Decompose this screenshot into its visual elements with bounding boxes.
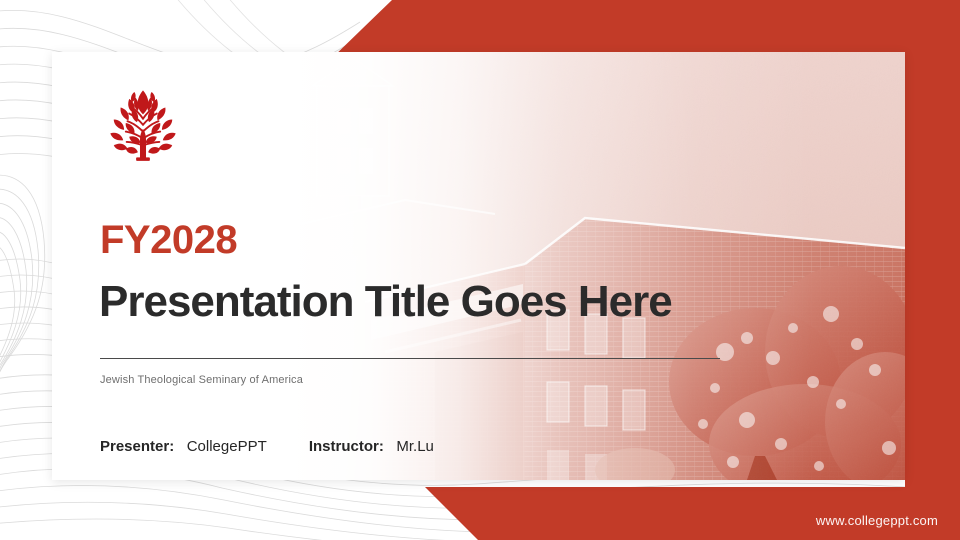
slide-card: FY2028 Presentation Title Goes Here Jewi… (52, 52, 905, 480)
instructor-value: Mr.Lu (396, 438, 434, 455)
jts-burning-bush-tree-logo-icon (100, 80, 186, 166)
page-title: Presentation Title Goes Here (99, 280, 672, 324)
fiscal-year-label: FY2028 (100, 220, 237, 260)
title-divider (100, 358, 720, 359)
byline: Presenter: CollegePPT Instructor: Mr.Lu (100, 438, 434, 455)
organization-name: Jewish Theological Seminary of America (100, 374, 303, 386)
presenter-value: CollegePPT (187, 438, 267, 455)
presentation-slide: FY2028 Presentation Title Goes Here Jewi… (0, 0, 960, 540)
presenter-label: Presenter: (100, 438, 174, 455)
footer-website-url: www.collegeppt.com (816, 513, 938, 528)
instructor-label: Instructor: (309, 438, 384, 455)
